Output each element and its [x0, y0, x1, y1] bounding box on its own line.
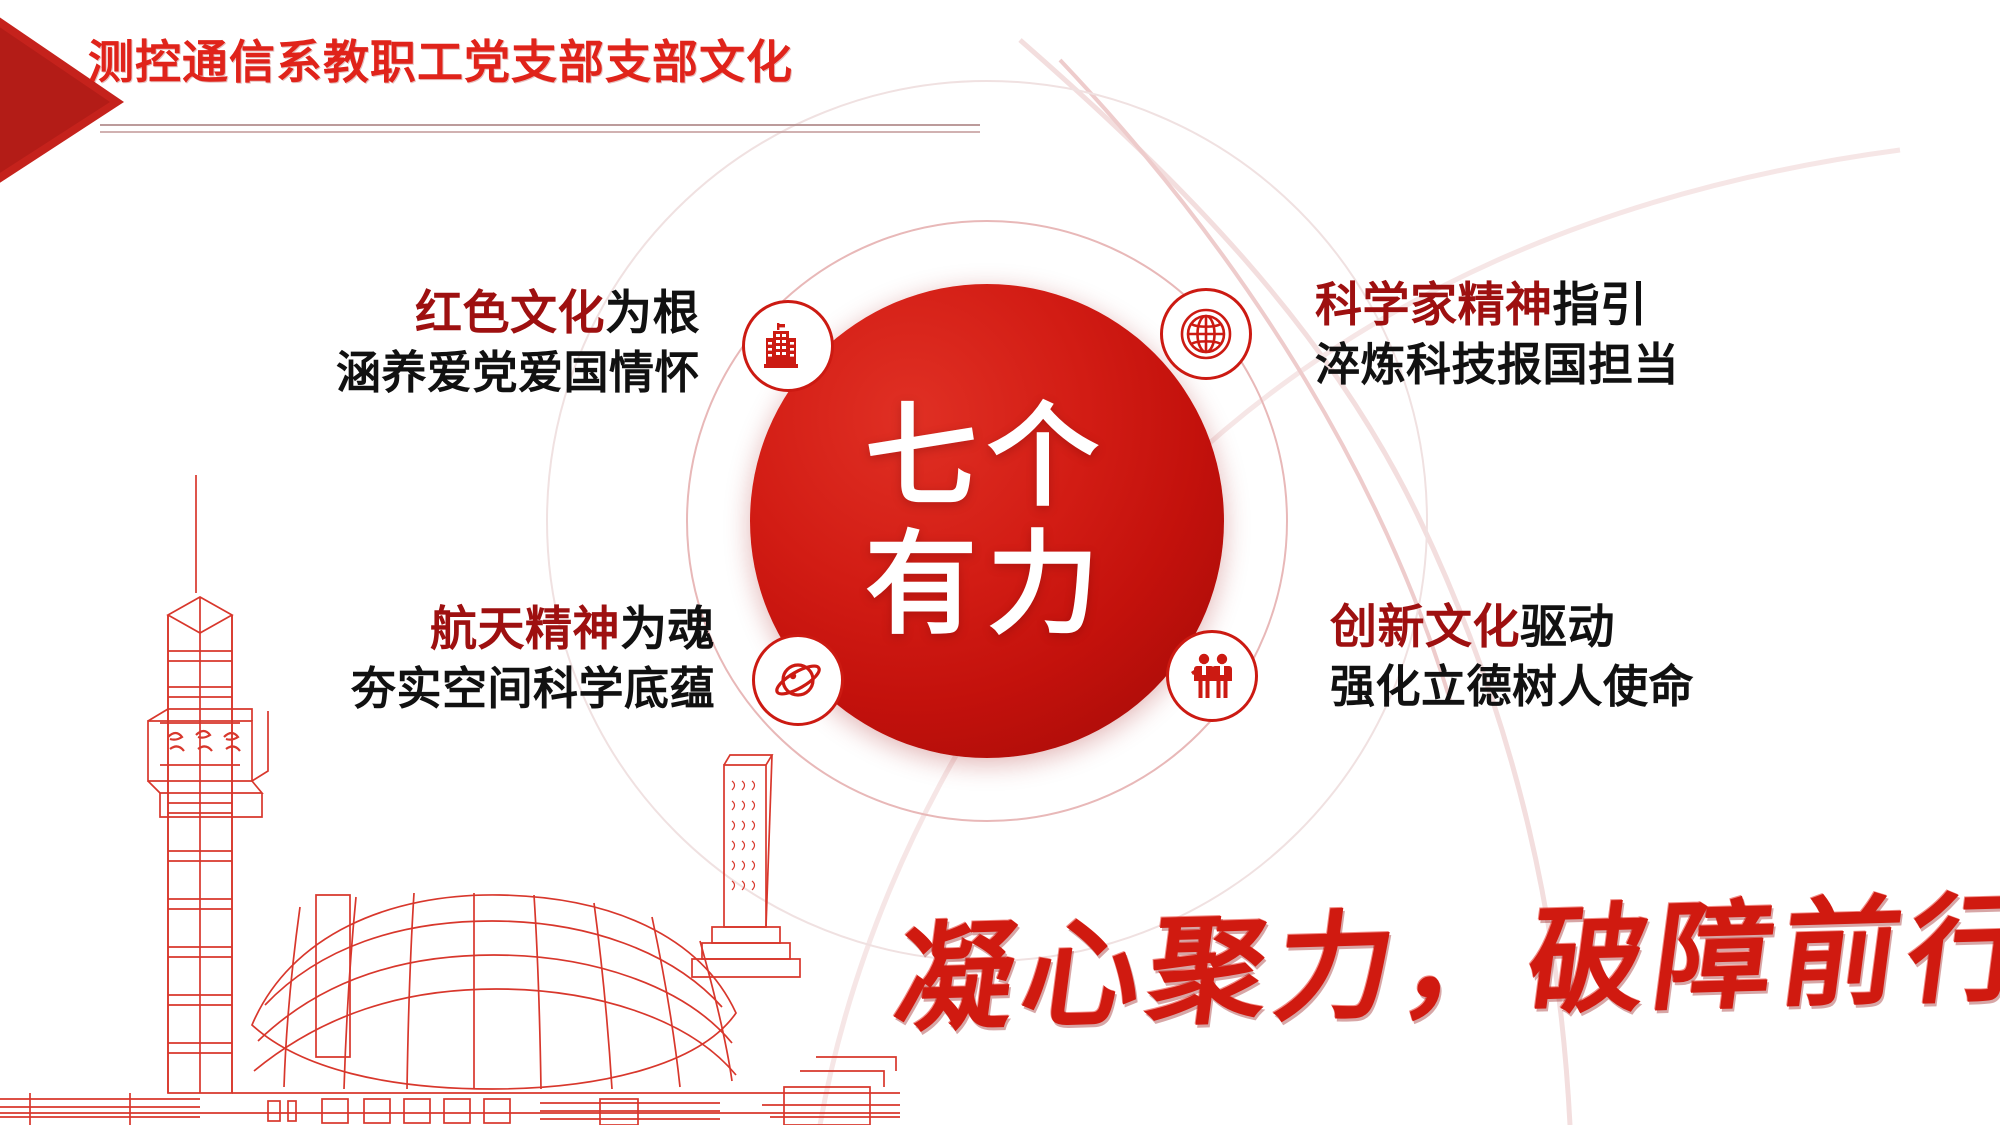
block-4-line1: 创新文化驱动	[1330, 600, 1694, 654]
globe-icon	[1178, 306, 1234, 362]
block-2-highlight: 科学家精神	[1315, 278, 1553, 331]
building-icon	[762, 320, 814, 372]
block-2-line1: 科学家精神指引	[1315, 278, 1679, 332]
text-block-aerospace-spirit: 航天精神为魂 夯实空间科学底蕴	[351, 602, 715, 716]
block-3-rest: 为魂	[620, 602, 715, 655]
people-icon-badge[interactable]	[1166, 630, 1258, 722]
center-label-line2: 有力	[865, 521, 1109, 649]
center-label-line1: 七个	[865, 393, 1109, 521]
block-2-line2: 淬炼科技报国担当	[1315, 338, 1679, 393]
text-block-red-culture: 红色文化为根 涵养爱党爱国情怀	[336, 286, 700, 400]
block-1-line2: 涵养爱党爱国情怀	[336, 346, 700, 401]
globe-icon-badge[interactable]	[1160, 288, 1252, 380]
people-icon	[1186, 650, 1238, 702]
building-icon-badge[interactable]	[742, 300, 834, 392]
block-3-line2: 夯实空间科学底蕴	[351, 662, 715, 717]
block-4-highlight: 创新文化	[1330, 600, 1520, 653]
block-4-line2: 强化立德树人使命	[1330, 660, 1694, 715]
block-2-rest: 指引	[1553, 278, 1648, 331]
campus-line-art-illustration	[0, 465, 900, 1125]
text-block-scientist-spirit: 科学家精神指引 淬炼科技报国担当	[1315, 278, 1679, 392]
slogan-calligraphy: 凝心聚力，破障前行	[887, 852, 2000, 1055]
center-label: 七个 有力	[865, 393, 1109, 648]
block-3-highlight: 航天精神	[430, 602, 620, 655]
planet-icon	[770, 652, 826, 708]
slide-canvas: 测控通信系教职工党支部支部文化 七个 有力	[0, 0, 2000, 1125]
block-4-rest: 驱动	[1520, 600, 1615, 653]
header-divider	[100, 124, 980, 144]
block-3-line1: 航天精神为魂	[351, 602, 715, 656]
page-title: 测控通信系教职工党支部支部文化	[88, 26, 793, 92]
block-1-rest: 为根	[605, 286, 700, 339]
text-block-innovation-culture: 创新文化驱动 强化立德树人使命	[1330, 600, 1694, 714]
planet-icon-badge[interactable]	[752, 634, 844, 726]
block-1-line1: 红色文化为根	[336, 286, 700, 340]
block-1-highlight: 红色文化	[415, 286, 605, 339]
